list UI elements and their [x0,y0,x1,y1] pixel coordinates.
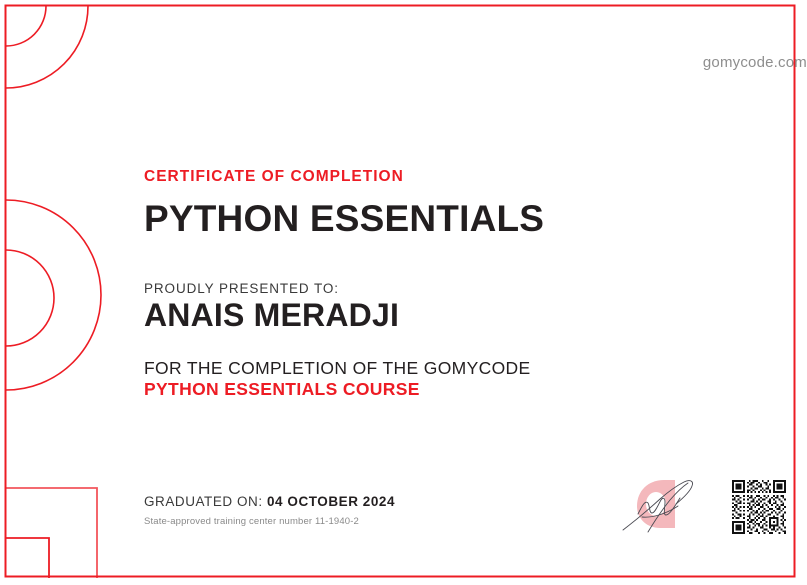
arc-mid-inner [6,250,54,346]
graduation-row: GRADUATED ON: 04 OCTOBER 2024 [144,493,504,511]
arc-top-outer [6,6,88,88]
presented-to-label: PROUDLY PRESENTED TO: [144,281,339,296]
certificate-kicker: CERTIFICATE OF COMPLETION [144,168,404,186]
course-title: PYTHON ESSENTIALS [144,198,544,240]
arc-top-inner [6,6,46,46]
completion-statement-line-2: PYTHON ESSENTIALS COURSE [144,379,420,400]
square-outer [6,488,97,578]
graduated-on-label: GRADUATED ON: [144,494,263,509]
square-inner [6,538,49,578]
signature-block [618,470,713,540]
verification-qr-code[interactable] [732,480,786,534]
arc-mid-outer [6,200,101,390]
certificate-footer: GRADUATED ON: 04 OCTOBER 2024 State-appr… [144,493,504,527]
gomycode-logo-mark [637,480,675,528]
certificate-canvas: gomycode.com CERTIFICATE OF COMPLETION P… [0,0,807,585]
website-watermark: gomycode.com [703,54,807,71]
graduation-date: 04 OCTOBER 2024 [267,494,395,509]
state-approval-note: State-approved training center number 11… [144,516,504,527]
recipient-name: ANAIS MERADJI [144,297,399,334]
completion-statement-line-1: FOR THE COMPLETION OF THE GOMYCODE [144,358,531,379]
